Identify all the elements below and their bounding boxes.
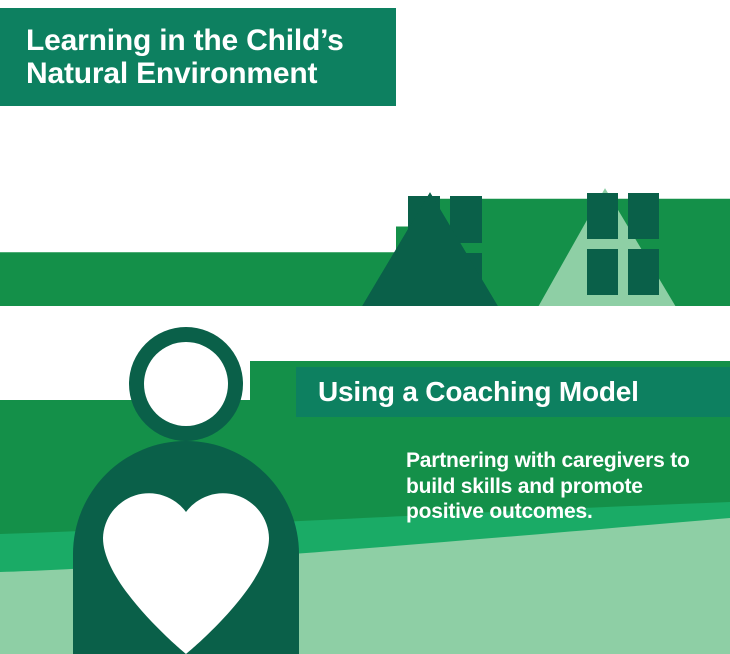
heading-line-2: Natural Environment bbox=[26, 57, 344, 90]
body-coaching-model: Partnering with caregivers to build skil… bbox=[406, 448, 716, 525]
house-roof-left-front-path bbox=[155, 192, 705, 306]
heading-text: Learning in the Child’s Natural Environm… bbox=[26, 24, 344, 90]
heading-text: Using a Coaching Model bbox=[318, 377, 639, 408]
heading-line-1: Learning in the Child’s bbox=[26, 24, 344, 57]
heading-natural-environment: Learning in the Child’s Natural Environm… bbox=[0, 8, 396, 106]
body-natural-environment: Supporting development during everyday r… bbox=[26, 138, 356, 189]
section-coaching-model: Using a Coaching Model Partnering with c… bbox=[0, 306, 730, 654]
heading-coaching-model: Using a Coaching Model bbox=[296, 367, 730, 417]
figure-head-inner bbox=[144, 342, 228, 426]
section-natural-environment: Learning in the Child’s Natural Environm… bbox=[0, 0, 730, 306]
infographic-canvas: Learning in the Child’s Natural Environm… bbox=[0, 0, 730, 654]
